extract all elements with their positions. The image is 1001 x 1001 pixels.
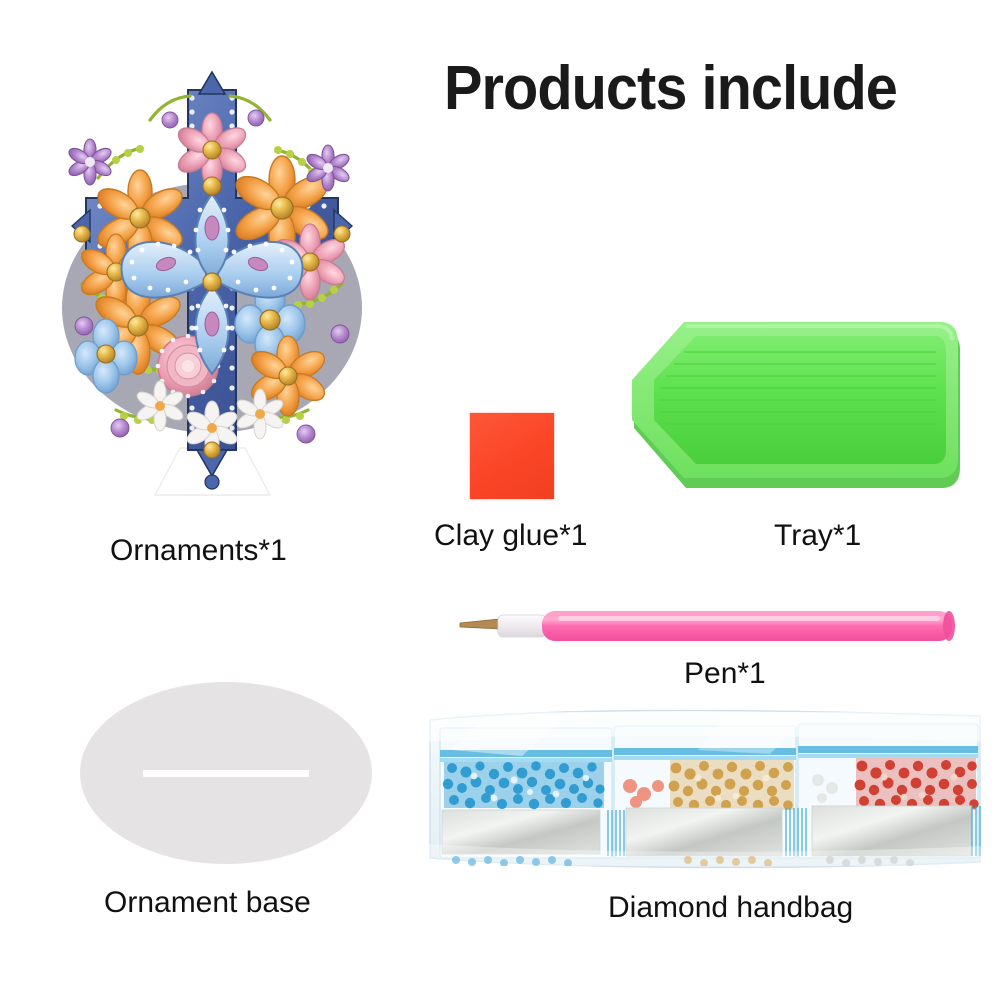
ornament-base-label: Ornament base: [104, 888, 311, 918]
page-title: Products include: [444, 58, 897, 120]
ornaments-label: Ornaments*1: [110, 536, 287, 566]
clay-glue-image: [470, 413, 554, 499]
tray-label: Tray*1: [774, 521, 861, 551]
tray-image: [624, 316, 964, 506]
ornament-base-slot: [143, 770, 309, 777]
pen-label: Pen*1: [684, 659, 766, 689]
ornament-base-image: [80, 682, 372, 864]
pen-image: [458, 603, 958, 649]
product-inclusion-infographic: Products include: [0, 0, 1001, 1001]
diamond-handbag-label: Diamond handbag: [608, 893, 853, 923]
diamond-handbag-image: [426, 706, 984, 872]
rhinestone-bag-3: [798, 724, 979, 867]
ornaments-image: [20, 58, 405, 498]
clay-glue-label: Clay glue*1: [434, 521, 587, 551]
